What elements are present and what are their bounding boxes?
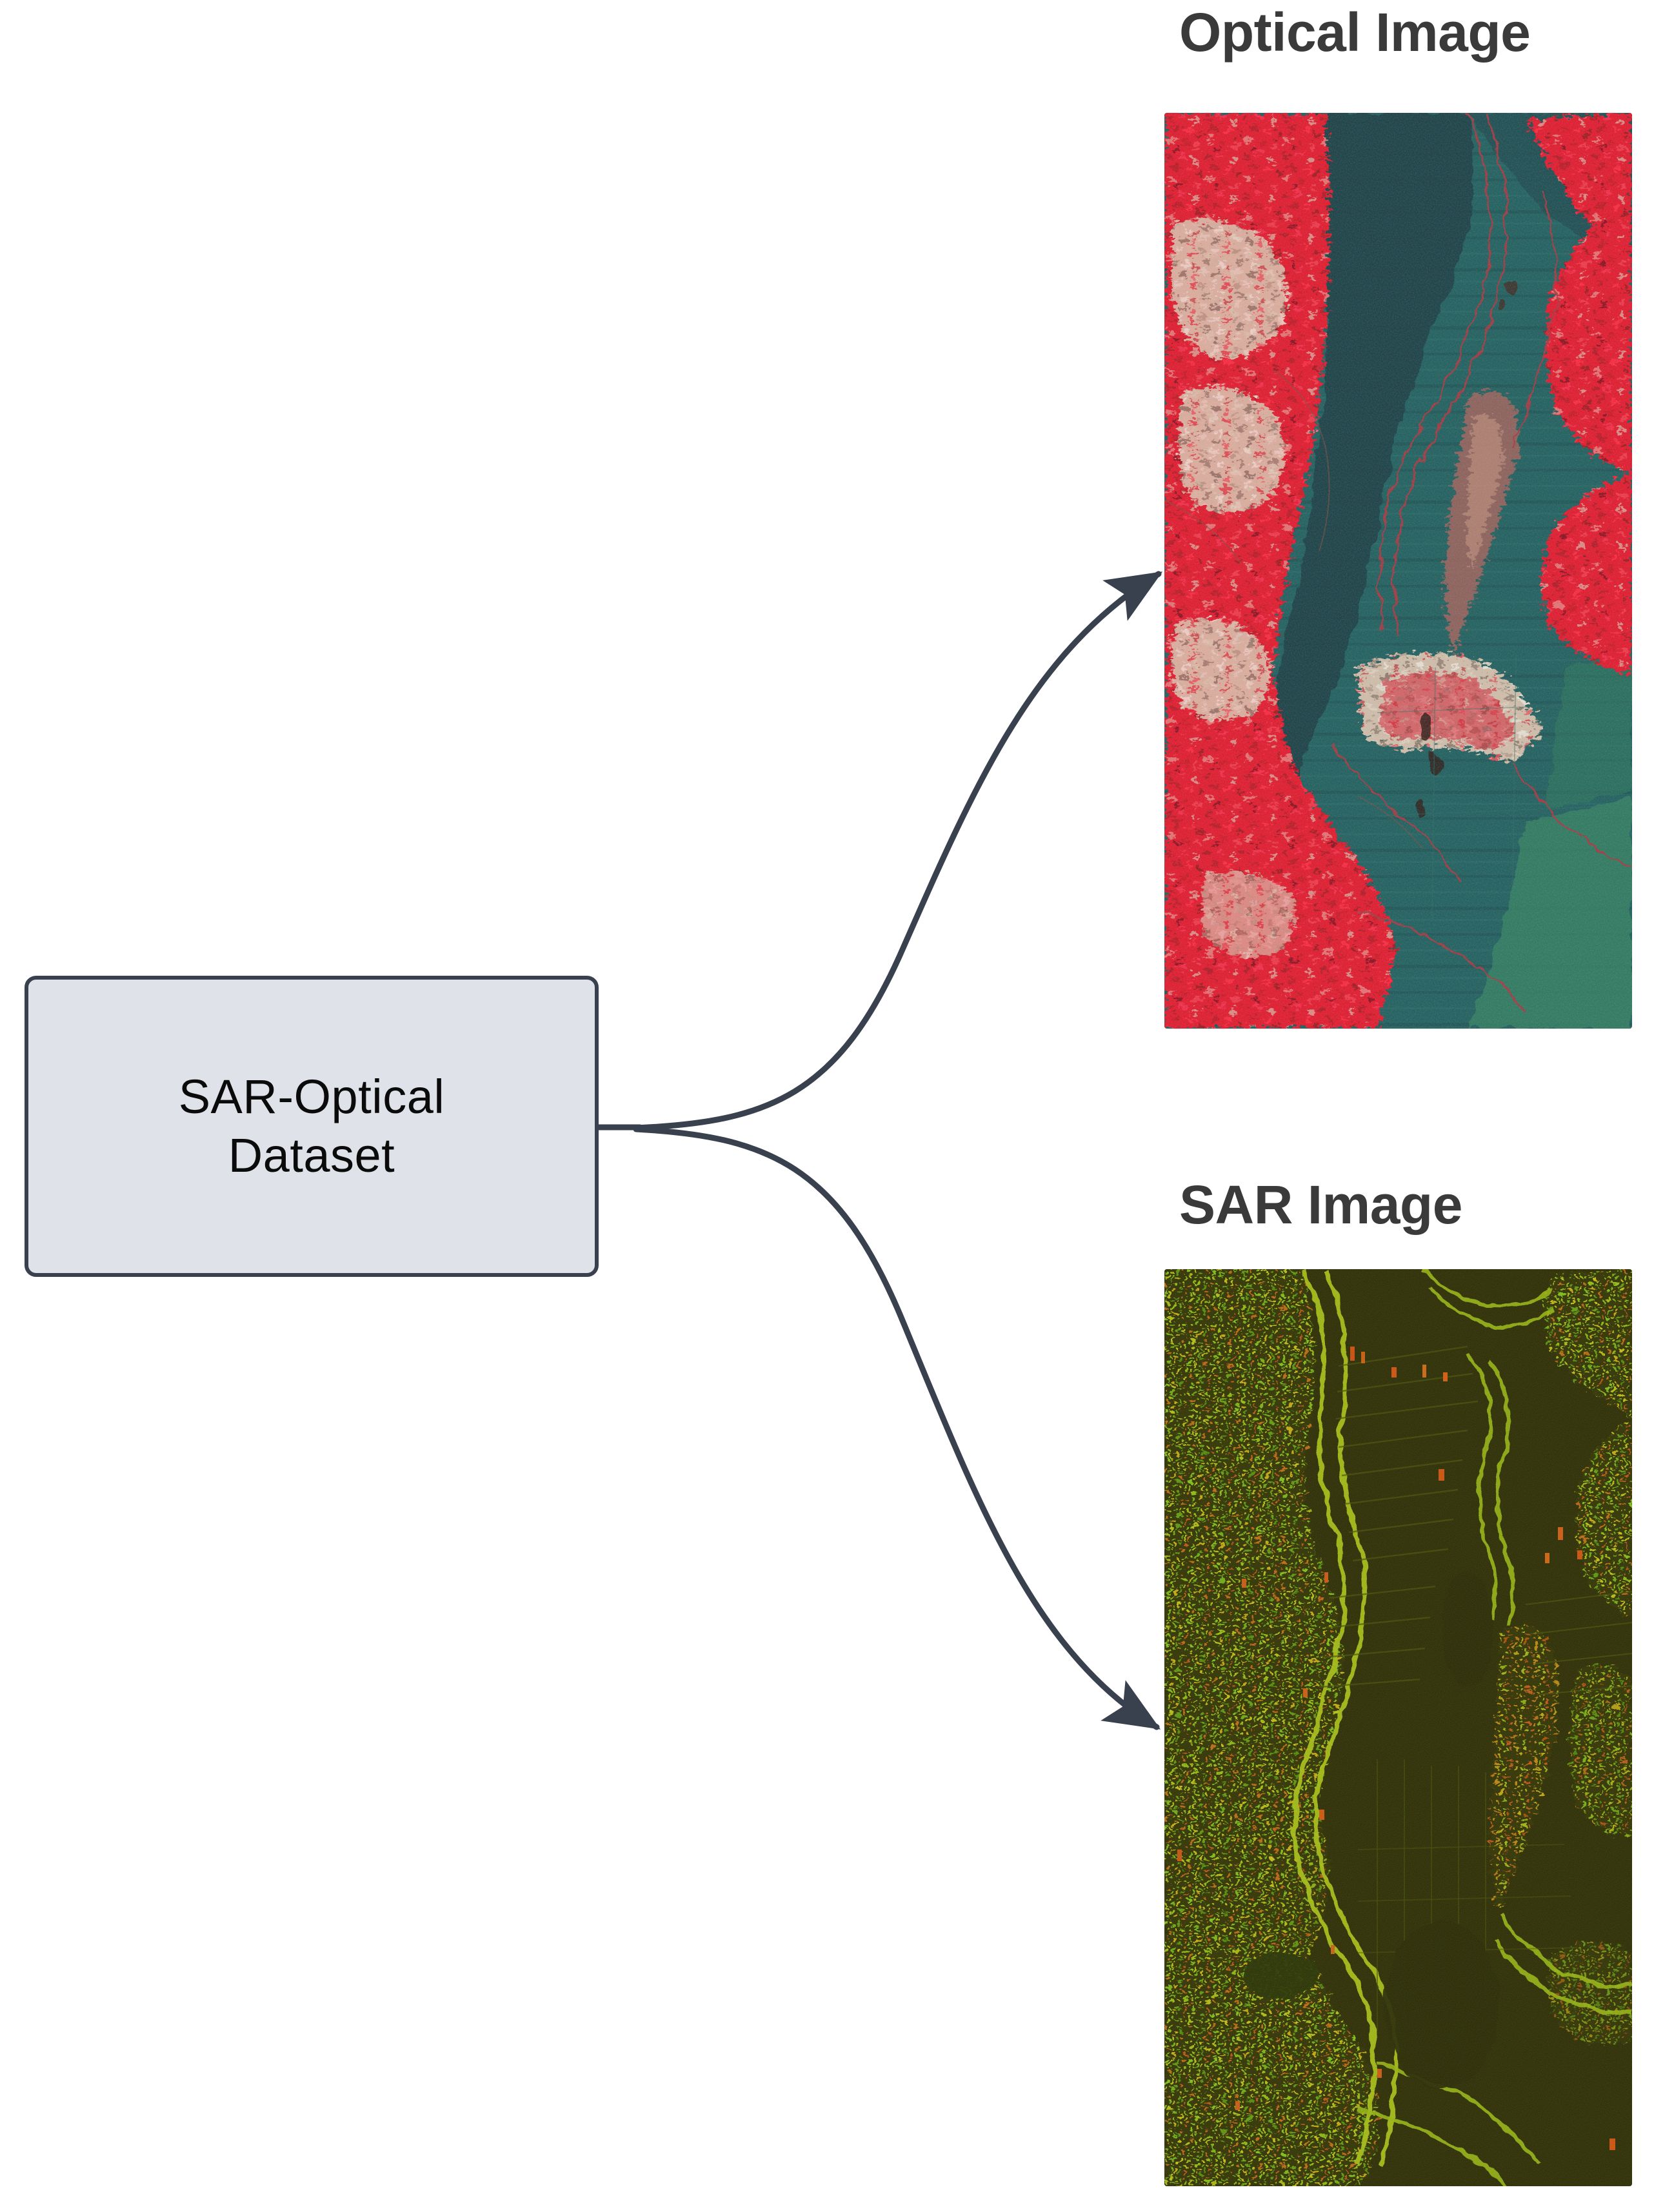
connector-to-sar <box>636 1129 1157 1727</box>
dataset-node-label: SAR-Optical Dataset <box>179 1068 445 1185</box>
optical-image-title: Optical Image <box>1179 1 1530 64</box>
sar-image <box>1164 1269 1632 2186</box>
connector-to-optical <box>636 574 1159 1128</box>
sar-image-title: SAR Image <box>1179 1174 1462 1236</box>
sar-image-render <box>1164 1269 1632 2186</box>
optical-image <box>1164 113 1632 1029</box>
optical-image-render <box>1164 113 1632 1029</box>
dataset-node[interactable]: SAR-Optical Dataset <box>25 976 599 1277</box>
diagram-canvas: SAR-Optical Dataset Optical Image SAR Im… <box>0 0 1654 2212</box>
